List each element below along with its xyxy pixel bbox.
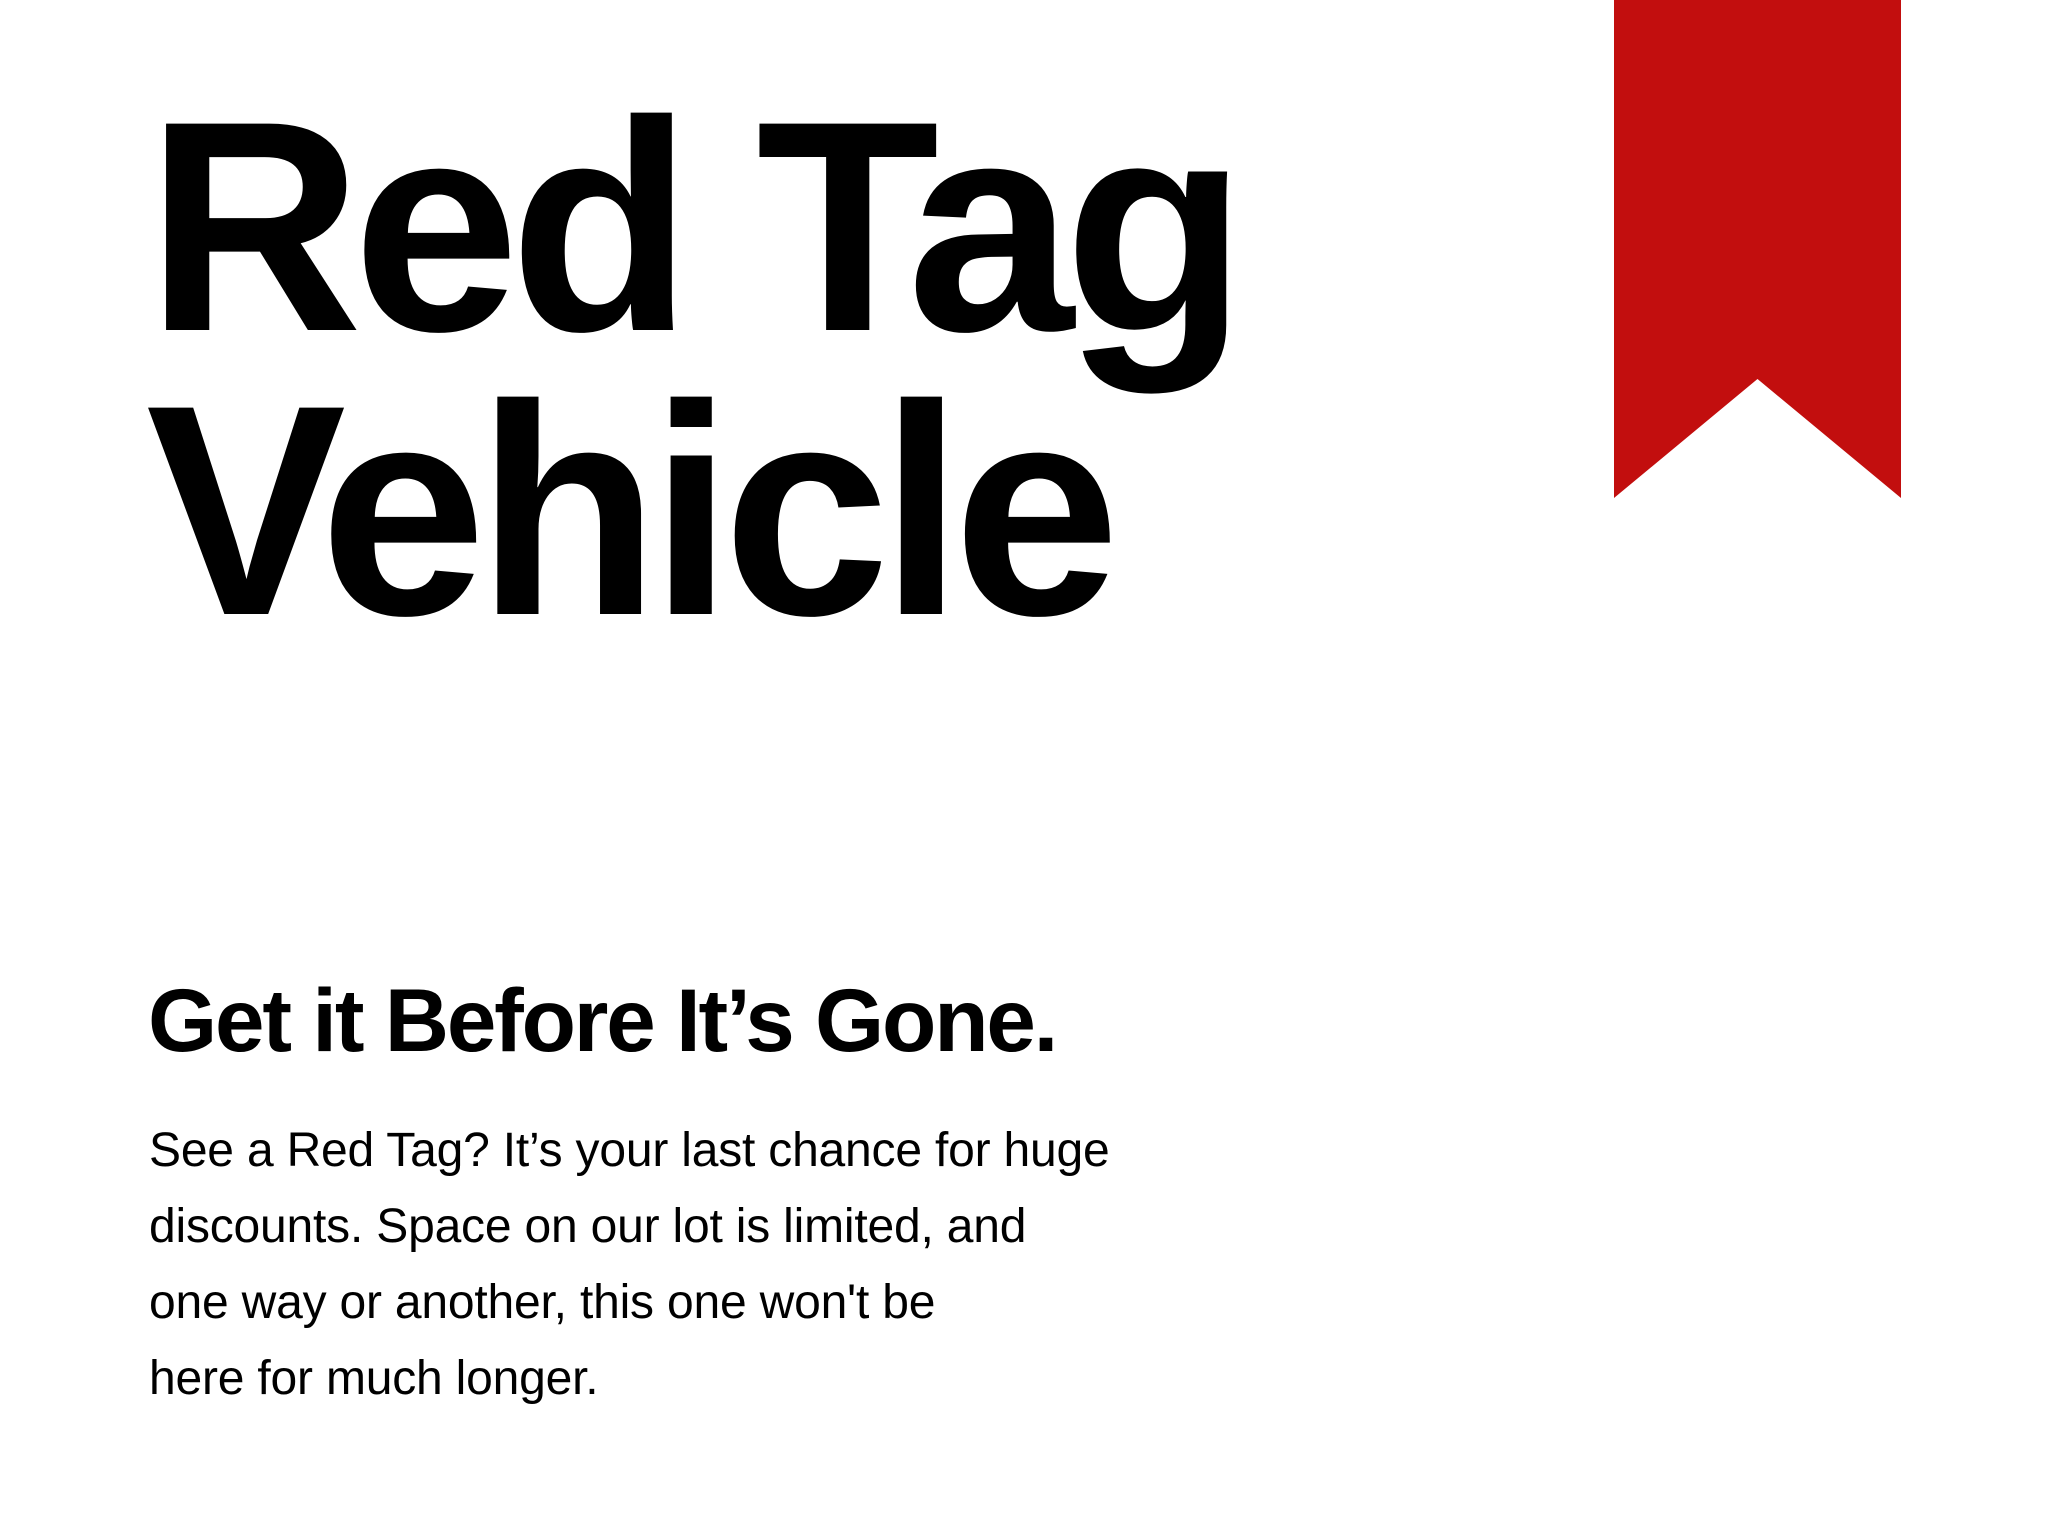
promo-poster: Red Tag Vehicle Get it Before It’s Gone.… bbox=[0, 0, 2048, 1536]
page-title: Red Tag Vehicle bbox=[146, 84, 1446, 652]
red-tag-ribbon-icon bbox=[1614, 0, 1901, 498]
body-paragraph: See a Red Tag? It’s your last chance for… bbox=[149, 1113, 1399, 1417]
subheading: Get it Before It’s Gone. bbox=[148, 972, 1056, 1068]
